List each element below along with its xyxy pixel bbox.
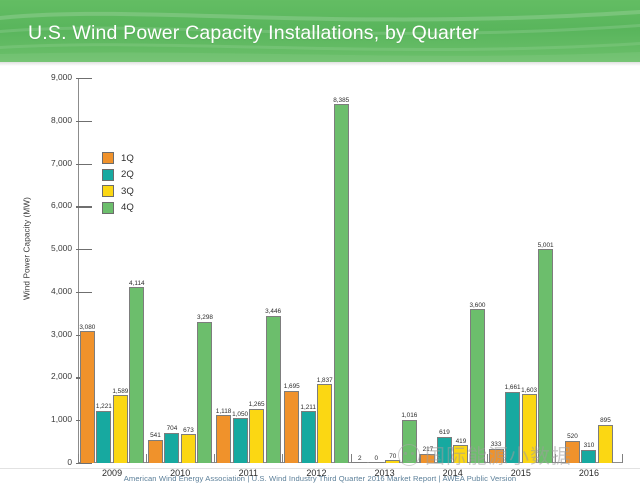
- bar-2009-4Q[interactable]: 4,114: [129, 287, 144, 463]
- bar-group-2012: 1,6951,2111,8378,3852012: [282, 78, 350, 463]
- bar-value-label: 1,211: [300, 404, 316, 411]
- y-tick-label: 8,000: [51, 115, 72, 125]
- x-axis-end-tick: [622, 454, 623, 463]
- bar-2015-3Q[interactable]: 1,603: [522, 394, 537, 463]
- bar-value-label: 2: [358, 455, 362, 462]
- bar-2010-3Q[interactable]: 673: [181, 434, 196, 463]
- bar-2014-3Q[interactable]: 419: [453, 445, 468, 463]
- x-group-separator: [555, 454, 556, 463]
- bar-2015-4Q[interactable]: 5,001: [538, 249, 553, 463]
- legend-label-1q: 1Q: [121, 153, 134, 164]
- legend-item-3q: 3Q: [102, 185, 134, 197]
- bar-value-label: 1,589: [112, 388, 128, 395]
- y-tick-label: 6,000: [51, 200, 72, 210]
- legend-swatch-2q: [102, 169, 114, 181]
- x-group-separator: [78, 454, 79, 463]
- chart-legend: 1Q 2Q 3Q 4Q: [102, 152, 134, 214]
- y-tick-label: 3,000: [51, 329, 72, 339]
- y-tick-label: 7,000: [51, 158, 72, 168]
- bar-2012-2Q[interactable]: 1,211: [301, 411, 316, 463]
- y-tick-mark: [76, 463, 92, 464]
- bar-2013-2Q[interactable]: 0: [369, 462, 384, 463]
- bar-group-2014: 2176194193,6002014: [419, 78, 487, 463]
- bar-2012-3Q[interactable]: 1,837: [317, 384, 332, 463]
- bar-value-label: 1,118: [216, 408, 232, 415]
- bar-value-label: 217: [423, 446, 434, 453]
- bar-value-label: 419: [456, 438, 467, 445]
- legend-swatch-3q: [102, 185, 114, 197]
- bar-value-label: 895: [600, 417, 611, 424]
- bar-group-2016: 5203108952016: [555, 78, 623, 463]
- y-axis-title: Wind Power Capacity (MW): [23, 164, 32, 334]
- chart-container: Wind Power Capacity (MW) 01,0002,0003,00…: [0, 66, 640, 466]
- bar-2010-1Q[interactable]: 541: [148, 440, 163, 463]
- legend-item-1q: 1Q: [102, 152, 134, 164]
- bar-value-label: 1,837: [317, 377, 333, 384]
- footer-text: American Wind Energy Association | U.S. …: [0, 474, 640, 483]
- y-tick-label: 5,000: [51, 243, 72, 253]
- bar-value-label: 1,016: [401, 412, 417, 419]
- bar-2009-3Q[interactable]: 1,589: [113, 395, 128, 463]
- bar-2010-2Q[interactable]: 704: [164, 433, 179, 463]
- bar-group-2011: 1,1181,0501,2653,4462011: [214, 78, 282, 463]
- legend-item-4q: 4Q: [102, 202, 134, 214]
- header-banner: U.S. Wind Power Capacity Installations, …: [0, 0, 640, 62]
- bar-value-label: 3,080: [79, 324, 95, 331]
- bar-2011-1Q[interactable]: 1,118: [216, 415, 231, 463]
- bar-value-label: 333: [491, 441, 502, 448]
- bar-2015-1Q[interactable]: 333: [489, 449, 504, 463]
- bar-2009-1Q[interactable]: 3,080: [80, 331, 95, 463]
- bar-value-label: 70: [389, 453, 396, 460]
- bar-value-label: 4,114: [129, 280, 145, 287]
- bar-value-label: 704: [167, 425, 178, 432]
- x-group-separator: [282, 454, 283, 463]
- bar-value-label: 1,661: [505, 384, 521, 391]
- bar-2016-3Q[interactable]: 895: [598, 425, 613, 463]
- bar-2014-2Q[interactable]: 619: [437, 437, 452, 463]
- legend-item-2q: 2Q: [102, 169, 134, 181]
- y-tick-label: 2,000: [51, 371, 72, 381]
- bar-value-label: 520: [567, 433, 578, 440]
- bar-2010-4Q[interactable]: 3,298: [197, 322, 212, 463]
- bar-value-label: 541: [150, 432, 161, 439]
- chart-page: U.S. Wind Power Capacity Installations, …: [0, 0, 640, 500]
- plot-area: 01,0002,0003,0004,0005,0006,0007,0008,00…: [78, 78, 623, 463]
- bar-value-label: 1,221: [96, 403, 112, 410]
- legend-label-3q: 3Q: [121, 186, 134, 197]
- bar-2011-2Q[interactable]: 1,050: [233, 418, 248, 463]
- bar-value-label: 1,603: [521, 387, 537, 394]
- y-tick-label: 0: [67, 457, 72, 467]
- bar-2014-1Q[interactable]: 217: [420, 454, 435, 463]
- legend-label-2q: 2Q: [121, 169, 134, 180]
- bar-2016-2Q[interactable]: 310: [581, 450, 596, 463]
- bar-2011-4Q[interactable]: 3,446: [266, 316, 281, 463]
- bar-value-label: 0: [375, 455, 379, 462]
- y-tick-label: 4,000: [51, 286, 72, 296]
- bar-value-label: 1,265: [249, 401, 265, 408]
- bar-value-label: 3,298: [197, 314, 213, 321]
- bar-groups: 3,0801,2211,5894,11420095417046733,29820…: [78, 78, 623, 463]
- legend-label-4q: 4Q: [121, 202, 134, 213]
- bar-value-label: 3,446: [265, 308, 281, 315]
- bar-2013-4Q[interactable]: 1,016: [402, 420, 417, 463]
- y-tick-label: 9,000: [51, 72, 72, 82]
- bar-value-label: 673: [183, 427, 194, 434]
- bar-value-label: 5,001: [538, 242, 554, 249]
- x-group-separator: [146, 454, 147, 463]
- bar-2016-1Q[interactable]: 520: [565, 441, 580, 463]
- bar-value-label: 1,695: [284, 383, 300, 390]
- bar-value-label: 1,050: [232, 411, 248, 418]
- page-title: U.S. Wind Power Capacity Installations, …: [28, 22, 479, 45]
- x-group-separator: [214, 454, 215, 463]
- bar-value-label: 310: [584, 442, 595, 449]
- x-group-separator: [487, 454, 488, 463]
- bar-2013-3Q[interactable]: 70: [385, 460, 400, 463]
- bar-value-label: 619: [439, 429, 450, 436]
- legend-swatch-4q: [102, 202, 114, 214]
- bar-2015-2Q[interactable]: 1,661: [505, 392, 520, 463]
- bar-2013-1Q[interactable]: 2: [352, 462, 367, 463]
- bar-2012-1Q[interactable]: 1,695: [284, 391, 299, 464]
- bar-value-label: 8,385: [333, 97, 349, 104]
- footer-divider: [0, 468, 640, 469]
- x-group-separator: [419, 454, 420, 463]
- bar-group-2010: 5417046733,2982010: [146, 78, 214, 463]
- bar-2009-2Q[interactable]: 1,221: [96, 411, 111, 463]
- bar-value-label: 3,600: [469, 302, 485, 309]
- bar-2012-4Q[interactable]: 8,385: [334, 104, 349, 463]
- y-tick-label: 1,000: [51, 414, 72, 424]
- bar-group-2015: 3331,6611,6035,0012015: [487, 78, 555, 463]
- legend-swatch-1q: [102, 152, 114, 164]
- x-group-separator: [351, 454, 352, 463]
- bar-2011-3Q[interactable]: 1,265: [249, 409, 264, 463]
- bar-2014-4Q[interactable]: 3,600: [470, 309, 485, 463]
- bar-group-2009: 3,0801,2211,5894,1142009: [78, 78, 146, 463]
- bar-group-2013: 20701,0162013: [351, 78, 419, 463]
